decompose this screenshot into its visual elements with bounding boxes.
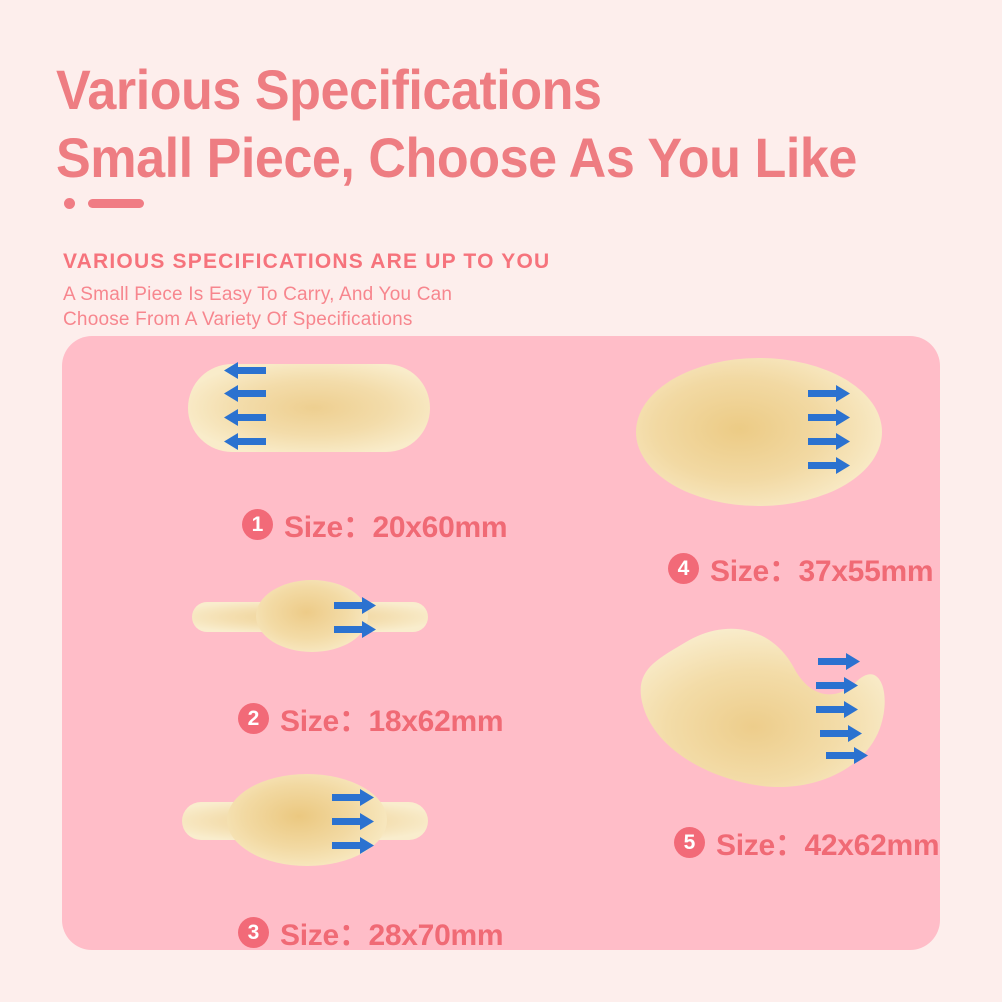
spec-5-badge: 5 — [674, 827, 705, 858]
spec-2-label: 2 Size：18x62mm — [238, 696, 503, 740]
arrow-right-icon — [808, 457, 850, 474]
arrow-group-right-5 — [792, 624, 892, 790]
arrow-group-right-2 — [330, 576, 400, 656]
section-description: A Small Piece Is Easy To Carry, And You … — [63, 282, 452, 332]
arrow-left-icon — [224, 362, 266, 379]
arrow-left-icon — [224, 409, 266, 426]
spec-item-2[interactable]: 2 Size：18x62mm — [190, 576, 430, 656]
spec-4-illustration — [634, 356, 884, 508]
divider-dot-icon — [64, 198, 75, 209]
arrow-right-icon — [332, 837, 374, 854]
spec-1-badge: 1 — [242, 509, 273, 540]
arrow-left-icon — [224, 433, 266, 450]
spec-3-badge: 3 — [238, 917, 269, 948]
specifications-panel: 1 Size：20x60mm — [62, 336, 940, 950]
arrow-left-icon — [224, 385, 266, 402]
arrow-right-icon — [826, 747, 868, 764]
arrow-group-right-4 — [804, 356, 894, 508]
spec-5-illustration — [634, 624, 890, 790]
arrow-group-left-4 — [208, 360, 288, 456]
arrow-right-icon — [334, 621, 376, 638]
spec-item-1[interactable]: 1 Size：20x60mm — [186, 360, 432, 456]
arrow-right-icon — [816, 677, 858, 694]
spec-2-illustration — [190, 576, 430, 656]
divider-bar-icon — [88, 199, 144, 208]
spec-4-size-text: Size：37x55mm — [710, 546, 933, 590]
spec-3-size-text: Size：28x70mm — [280, 910, 503, 954]
section-description-line-1: A Small Piece Is Easy To Carry, And You … — [63, 282, 452, 307]
spec-1-illustration — [186, 360, 432, 456]
spec-5-size-text: Size：42x62mm — [716, 820, 939, 864]
spec-1-label: 1 Size：20x60mm — [242, 502, 507, 546]
spec-3-illustration — [180, 772, 430, 868]
arrow-right-icon — [808, 433, 850, 450]
arrow-right-icon — [332, 789, 374, 806]
arrow-group-right-3 — [328, 772, 408, 868]
page-title-line-1: Various Specifications — [56, 56, 893, 124]
section-description-line-2: Choose From A Variety Of Specifications — [63, 307, 452, 332]
spec-2-size-text: Size：18x62mm — [280, 696, 503, 740]
spec-5-label: 5 Size：42x62mm — [674, 820, 939, 864]
spec-4-label: 4 Size：37x55mm — [668, 546, 933, 590]
arrow-right-icon — [820, 725, 862, 742]
title-divider — [64, 198, 144, 209]
page-title-line-2: Small Piece, Choose As You Like — [56, 124, 893, 192]
spec-3-label: 3 Size：28x70mm — [238, 910, 503, 954]
spec-item-3[interactable]: 3 Size：28x70mm — [180, 772, 430, 868]
spec-1-size-text: Size：20x60mm — [284, 502, 507, 546]
page-root: Various Specifications Small Piece, Choo… — [0, 0, 1002, 1002]
spec-item-4[interactable]: 4 Size：37x55mm — [634, 356, 884, 508]
arrow-right-icon — [332, 813, 374, 830]
arrow-right-icon — [808, 385, 850, 402]
spec-2-badge: 2 — [238, 703, 269, 734]
arrow-right-icon — [808, 409, 850, 426]
arrow-right-icon — [816, 701, 858, 718]
arrow-right-icon — [334, 597, 376, 614]
spec-4-badge: 4 — [668, 553, 699, 584]
spec-item-5[interactable]: 5 Size：42x62mm — [634, 624, 890, 790]
section-eyebrow: VARIOUS SPECIFICATIONS ARE UP TO YOU — [63, 250, 550, 274]
page-title: Various Specifications Small Piece, Choo… — [56, 56, 893, 192]
arrow-right-icon — [818, 653, 860, 670]
